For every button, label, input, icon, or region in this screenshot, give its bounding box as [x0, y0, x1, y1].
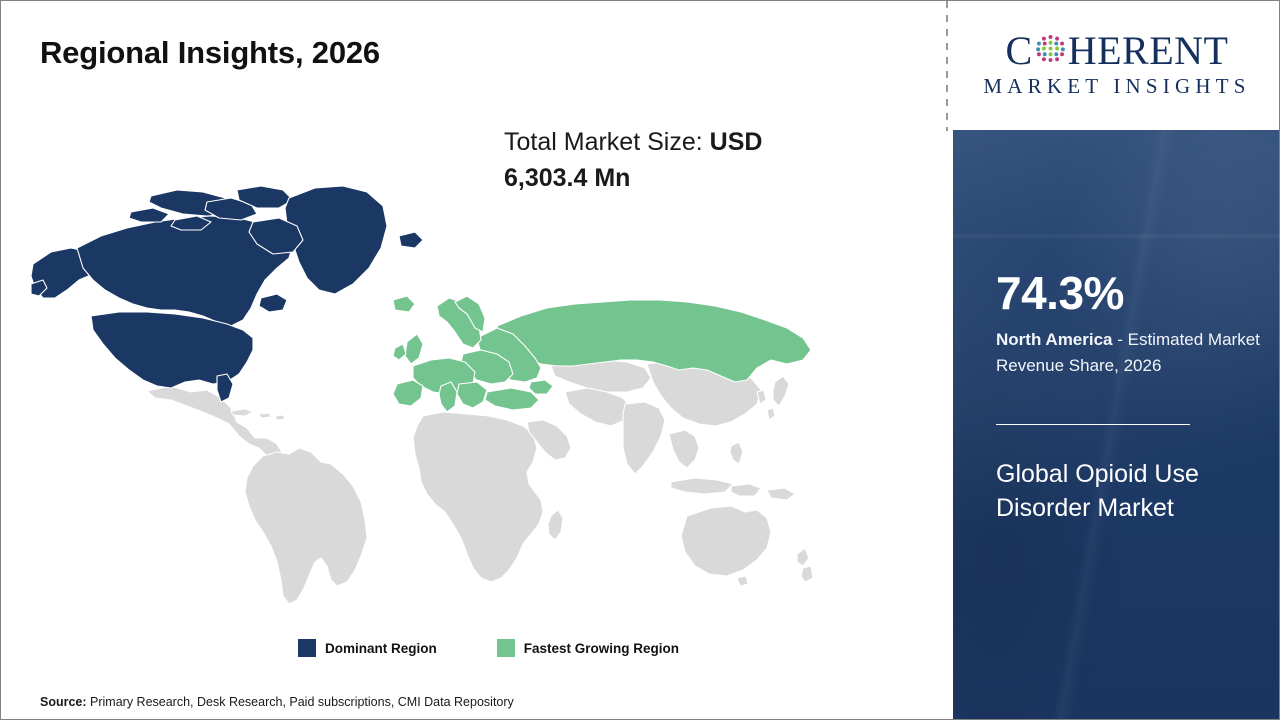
total-market-size-label: Total Market Size: — [504, 128, 710, 156]
legend-swatch-navy-icon — [298, 639, 316, 657]
legend-label-dominant: Dominant Region — [325, 641, 437, 656]
globe-dots-icon — [1034, 32, 1067, 65]
stat-region-name: North America — [996, 330, 1113, 349]
panel-background-texture — [953, 130, 1280, 720]
logo-wordmark: C — [963, 27, 1271, 71]
page-title: Regional Insights, 2026 — [40, 35, 380, 71]
map-legend: Dominant Region Fastest Growing Region — [298, 639, 679, 657]
stat-panel: 74.3% North America - Estimated Market R… — [953, 130, 1280, 720]
logo-letters-herent: HERENT — [1068, 28, 1229, 73]
logo-tagline: MARKET INSIGHTS — [963, 74, 1271, 99]
source-line: Source: Primary Research, Desk Research,… — [40, 695, 514, 709]
legend-swatch-green-icon — [497, 639, 515, 657]
stat-caption: North America - Estimated Market Revenue… — [996, 327, 1264, 379]
logo-letter-c: C — [1006, 28, 1033, 73]
legend-label-fastest-growing: Fastest Growing Region — [524, 641, 679, 656]
source-text: Primary Research, Desk Research, Paid su… — [87, 695, 514, 709]
world-map — [31, 186, 831, 616]
brand-logo: C — [963, 27, 1271, 109]
legend-item-dominant: Dominant Region — [298, 639, 437, 657]
panel-divider-rule — [996, 424, 1190, 425]
source-label: Source: — [40, 695, 87, 709]
map-region-dominant — [31, 186, 423, 402]
vertical-dashed-divider — [946, 1, 948, 131]
stat-percent-value: 74.3% — [996, 270, 1124, 316]
market-name: Global Opioid Use Disorder Market — [996, 457, 1251, 526]
legend-item-fastest-growing: Fastest Growing Region — [497, 639, 679, 657]
regional-insights-infographic: Regional Insights, 2026 Total Market Siz… — [0, 0, 1280, 720]
map-panel: Regional Insights, 2026 Total Market Siz… — [1, 1, 947, 719]
